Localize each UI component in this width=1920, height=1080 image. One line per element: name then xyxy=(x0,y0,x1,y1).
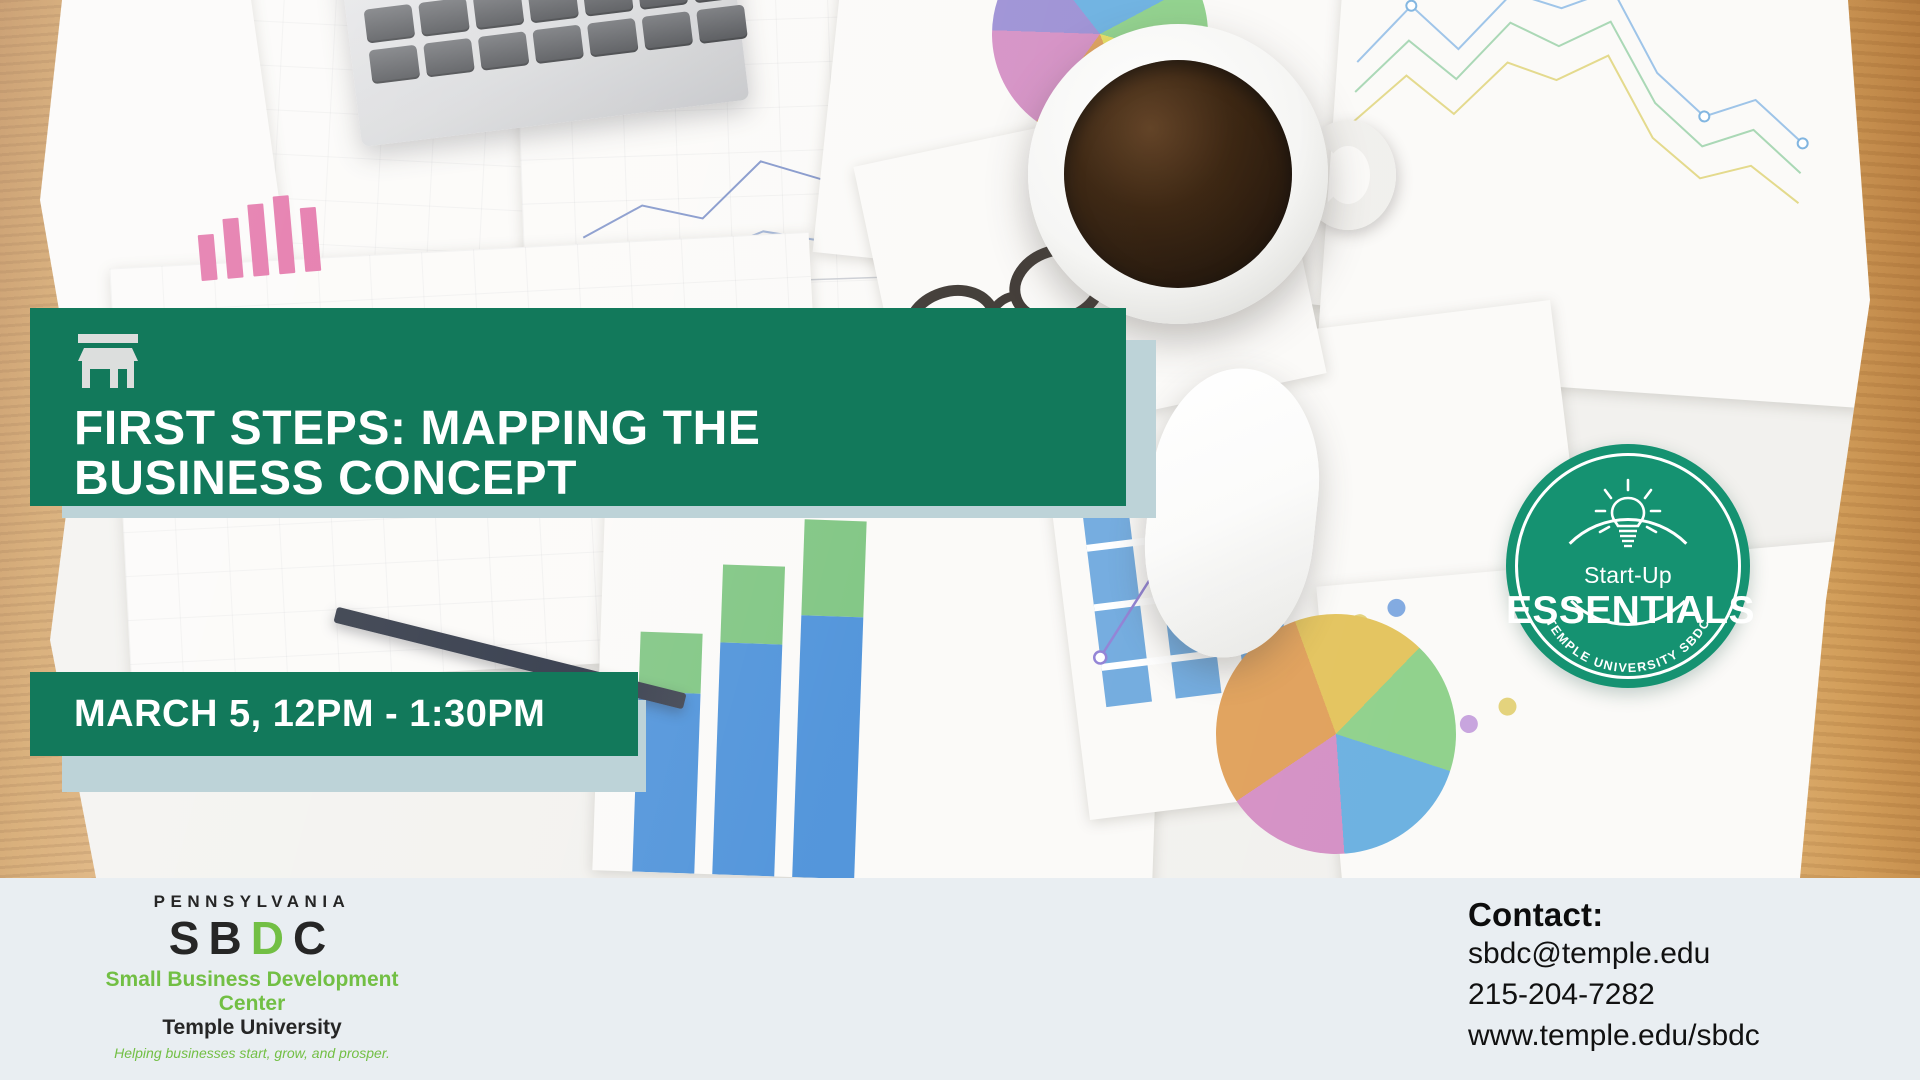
contact-phone[interactable]: 215-204-7282 xyxy=(1468,975,1760,1016)
event-datetime: MARCH 5, 12PM - 1:30PM xyxy=(74,693,545,736)
title-banner: FIRST STEPS: MAPPING THE BUSINESS CONCEP… xyxy=(30,308,1126,506)
contact-email[interactable]: sbdc@temple.edu xyxy=(1468,934,1760,975)
flyer-canvas: FIRST STEPS: MAPPING THE BUSINESS CONCEP… xyxy=(0,0,1920,1080)
event-title: FIRST STEPS: MAPPING THE BUSINESS CONCEP… xyxy=(74,404,1086,504)
logo-letter-c: C xyxy=(293,912,335,964)
badge-curved-label: TEMPLE UNIVERSITY SBDC xyxy=(1543,616,1713,675)
logo-full-name: Small Business Development Center xyxy=(72,968,432,1016)
date-banner: MARCH 5, 12PM - 1:30PM xyxy=(30,672,638,756)
logo-state-label: PENNSYLVANIA xyxy=(72,892,432,912)
logo-tagline: Helping businesses start, grow, and pros… xyxy=(72,1045,432,1061)
logo-letter-b: B xyxy=(208,912,250,964)
svg-text:TEMPLE UNIVERSITY SBDC: TEMPLE UNIVERSITY SBDC xyxy=(1543,616,1713,675)
logo-letter-s: S xyxy=(169,912,209,964)
footer-bar: PENNSYLVANIA SBDC Small Business Develop… xyxy=(0,878,1920,1080)
storefront-icon xyxy=(74,334,142,388)
contact-website[interactable]: www.temple.edu/sbdc xyxy=(1468,1016,1760,1057)
contact-block: Contact: sbdc@temple.edu 215-204-7282 ww… xyxy=(1468,896,1760,1056)
logo-university: Temple University xyxy=(72,1016,432,1040)
sbdc-logo: PENNSYLVANIA SBDC Small Business Develop… xyxy=(72,892,432,1061)
badge-curved-text: TEMPLE UNIVERSITY SBDC xyxy=(1506,444,1750,688)
startup-essentials-badge: Start-Up ESSENTIALS TEMPLE UNIVERSITY SB… xyxy=(1506,444,1750,688)
contact-heading: Contact: xyxy=(1468,896,1760,934)
logo-acronym: SBDC xyxy=(72,914,432,964)
logo-letter-d: D xyxy=(251,912,293,964)
